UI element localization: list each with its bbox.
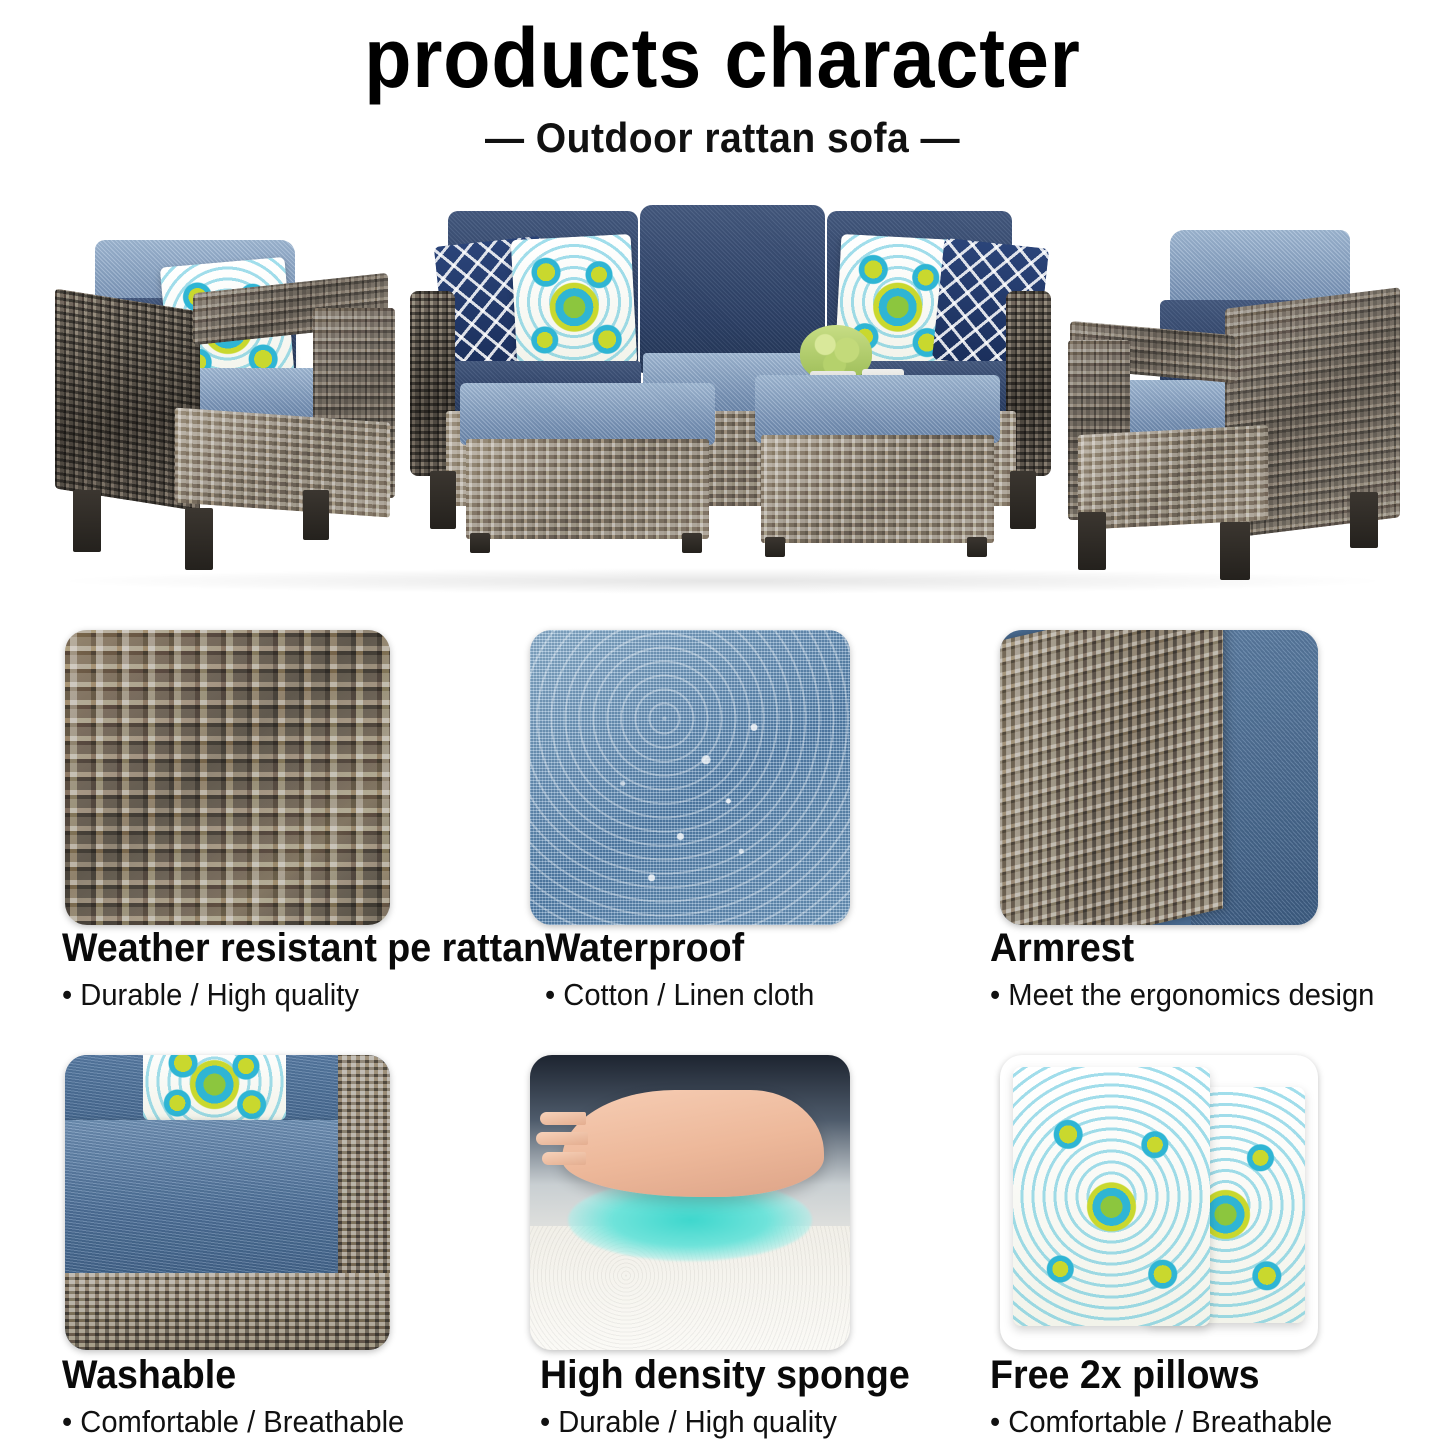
hand-pressing-foam-image xyxy=(530,1055,850,1350)
water-beading-fabric-image xyxy=(530,630,850,925)
feature-image-washable xyxy=(65,1055,390,1350)
armchair-right-leg-front-right xyxy=(1220,522,1250,580)
washable-accent-pillow xyxy=(143,1055,286,1120)
caption-free-2x-pillows: Free 2x pillows • Comfortable / Breathab… xyxy=(990,1355,1354,1437)
armrest-woven-block xyxy=(1000,630,1223,925)
pillow-front xyxy=(1013,1067,1210,1327)
feature-title-high-density-sponge: High density sponge xyxy=(540,1355,910,1395)
feature-title-free-2x-pillows: Free 2x pillows xyxy=(990,1355,1332,1395)
cushion-seat-closeup-image xyxy=(65,1055,390,1350)
feature-image-weather-resistant-pe-rattan xyxy=(65,630,390,925)
ottoman-left xyxy=(460,383,715,548)
caption-waterproof: Waterproof • Cotton / Linen cloth xyxy=(545,928,832,1010)
feature-image-waterproof xyxy=(530,630,850,925)
subtitle-dash-left: — xyxy=(485,114,525,161)
hero-product-image xyxy=(0,185,1445,600)
armchair-right-leg-back-right xyxy=(1350,492,1378,548)
washable-seat-cushion xyxy=(65,1120,358,1285)
feature-bullet-waterproof: • Cotton / Linen cloth xyxy=(545,979,814,1010)
finger-3 xyxy=(542,1152,586,1165)
feature-bullet-high-density-sponge: • Durable / High quality xyxy=(540,1406,910,1437)
feature-title-waterproof: Waterproof xyxy=(545,928,814,968)
finger-2 xyxy=(536,1132,588,1145)
armchair-left xyxy=(55,240,400,570)
woven-armrest-closeup-image xyxy=(1000,630,1318,925)
feature-title-weather-resistant-pe-rattan: Weather resistant pe rattan xyxy=(62,928,546,968)
sofa-pillow-medallion-left xyxy=(511,234,638,370)
armchair-left-leg-front-left xyxy=(73,490,101,552)
ottoman-left-cushion xyxy=(460,383,715,445)
product-feature-infographic: products character — Outdoor rattan sofa… xyxy=(0,0,1445,1445)
rattan-weave-texture-image xyxy=(65,630,390,925)
caption-high-density-sponge: High density sponge • Durable / High qua… xyxy=(540,1355,933,1437)
armchair-left-leg-front-right xyxy=(185,508,213,570)
sofa-back-cushion-center xyxy=(640,205,825,373)
hand-icon xyxy=(562,1090,824,1196)
armchair-left-leg-back-right xyxy=(303,490,329,540)
sofa-leg-right xyxy=(1010,471,1036,529)
ottoman-left-leg-left xyxy=(470,533,490,553)
sofa-leg-left xyxy=(430,471,456,529)
feature-bullet-free-2x-pillows: • Comfortable / Breathable xyxy=(990,1406,1332,1437)
caption-washable: Washable • Comfortable / Breathable xyxy=(62,1355,426,1437)
washable-rattan-base xyxy=(65,1273,390,1350)
armchair-right-leg-front-left xyxy=(1078,512,1106,570)
ottoman-right-leg-right xyxy=(967,537,987,557)
feature-image-free-2x-pillows xyxy=(1000,1055,1318,1350)
armchair-right xyxy=(1060,230,1400,575)
feature-bullet-armrest: • Meet the ergonomics design xyxy=(990,979,1374,1010)
ottoman-left-leg-right xyxy=(682,533,702,553)
finger-1 xyxy=(540,1112,586,1125)
feature-title-armrest: Armrest xyxy=(990,928,1374,968)
feature-title-washable: Washable xyxy=(62,1355,404,1395)
ottoman-right-cushion xyxy=(755,375,1000,443)
armchair-left-front-panel xyxy=(175,407,390,517)
caption-weather-resistant-pe-rattan: Weather resistant pe rattan • Durable / … xyxy=(62,928,577,1010)
page-title: products character xyxy=(58,0,1387,102)
ottoman-left-body xyxy=(466,439,709,539)
feature-image-armrest xyxy=(1000,630,1318,925)
ottoman-right-body xyxy=(761,435,994,543)
feature-bullet-washable: • Comfortable / Breathable xyxy=(62,1406,404,1437)
armchair-right-front-panel xyxy=(1078,425,1268,530)
feature-bullet-weather-resistant-pe-rattan: • Durable / High quality xyxy=(62,979,546,1010)
header: products character — Outdoor rattan sofa… xyxy=(0,0,1445,162)
ottoman-right-leg-left xyxy=(765,537,785,557)
subtitle-dash-right: — xyxy=(921,114,961,161)
caption-armrest: Armrest • Meet the ergonomics design xyxy=(990,928,1399,1010)
feature-image-high-density-sponge xyxy=(530,1055,850,1350)
two-medallion-pillows-image xyxy=(1000,1055,1318,1350)
ottoman-right xyxy=(755,375,1000,553)
page-subtitle: — Outdoor rattan sofa — xyxy=(51,114,1395,162)
subtitle-text: Outdoor rattan sofa xyxy=(536,114,909,161)
